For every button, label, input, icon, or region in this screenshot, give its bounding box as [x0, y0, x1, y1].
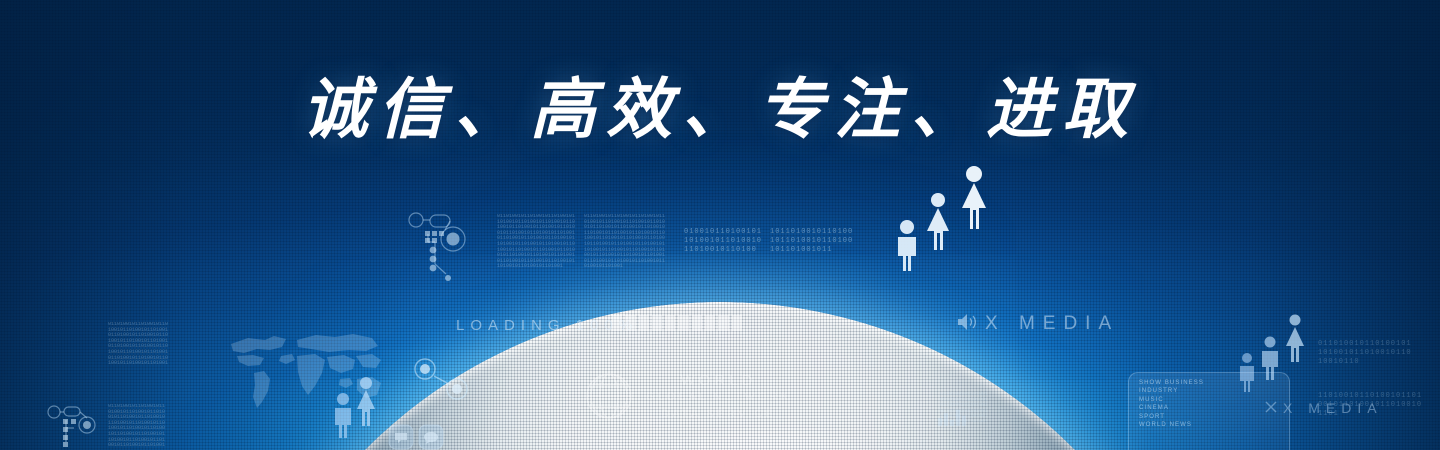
list-item[interactable]: WORLD NEWS — [1139, 421, 1204, 429]
world-label-main: WORLD — [646, 372, 791, 389]
binary-stream-block: 0100101101001011010010110100101101001011… — [684, 228, 762, 262]
media-logo-top: X MEDIA — [985, 313, 1119, 335]
person-female-icon — [1282, 314, 1308, 362]
person-male-icon — [892, 219, 922, 271]
list-item[interactable]: SPORT — [1139, 413, 1204, 421]
network-node-icon — [40, 398, 102, 450]
data-text-block: 0110100101101001011010010110100101101001… — [108, 322, 170, 366]
binary-stream-block: 1011010010110100101101001011010010110100… — [770, 228, 856, 262]
data-text-block-content: 0110100101101001011010010110100101101001… — [584, 214, 666, 268]
loading-progress-bar — [612, 315, 742, 331]
globe-wireframe-icon — [585, 372, 633, 420]
world-label-sub-2: DATA SERVICE — [646, 406, 791, 423]
media-category-list[interactable]: SHOW BUSINESS INDUSTRY MUSIC CINEMA SPOR… — [1139, 379, 1204, 429]
data-bar-strip — [938, 410, 966, 426]
person-female-icon — [352, 376, 380, 426]
data-text-block-content: 0110100101101001011010010110100101101001… — [108, 404, 166, 446]
world-label-sub-1: GLOBAL NETWORK — [646, 389, 791, 406]
list-item[interactable]: MUSIC — [1139, 396, 1204, 404]
data-text-block: 0110100101101001011010010110100101101001… — [108, 404, 166, 446]
person-male-icon — [1236, 352, 1258, 392]
network-node-icon — [404, 208, 466, 290]
chat-bubble-icon — [388, 424, 414, 450]
hero-banner: 0110100101101001011010010110100101101001… — [0, 0, 1440, 450]
list-item[interactable]: CINEMA — [1139, 404, 1204, 412]
data-text-block: 0110100101101001011010010110100101101001… — [497, 214, 577, 268]
person-female-icon — [922, 192, 954, 250]
list-item[interactable]: SHOW BUSINESS — [1139, 379, 1204, 387]
binary-stream-a: 0100101101001011010010110100101101001011… — [684, 228, 762, 255]
person-female-icon — [956, 165, 992, 229]
data-text-block: 0110100101101001011010010110100101101001… — [584, 214, 666, 268]
binary-stream-b: 1011010010110100101101001011010010110100… — [770, 228, 856, 255]
network-node-icon — [410, 355, 472, 403]
binary-stream-block: 0110100101101001011010010110100101101001… — [1318, 340, 1414, 384]
list-item[interactable]: INDUSTRY — [1139, 387, 1204, 395]
binary-stream-c: 0110100101101001011010010110100101101001… — [1318, 340, 1414, 367]
person-male-icon — [1258, 336, 1282, 380]
close-x-icon — [1264, 400, 1278, 414]
loading-label: LOADING 100% — [456, 317, 638, 334]
data-text-block-content: 0110100101101001011010010110100101101001… — [497, 214, 577, 268]
data-text-block-content: 0110100101101001011010010110100101101001… — [108, 322, 170, 366]
world-label: WORLD GLOBAL NETWORK DATA SERVICE — [646, 372, 791, 423]
chat-bubble-icon — [418, 424, 444, 450]
page-title: 诚信、高效、专注、进取 — [0, 56, 1440, 152]
speaker-icon — [955, 313, 979, 331]
media-logo-bottom: X MEDIA — [1283, 400, 1383, 416]
